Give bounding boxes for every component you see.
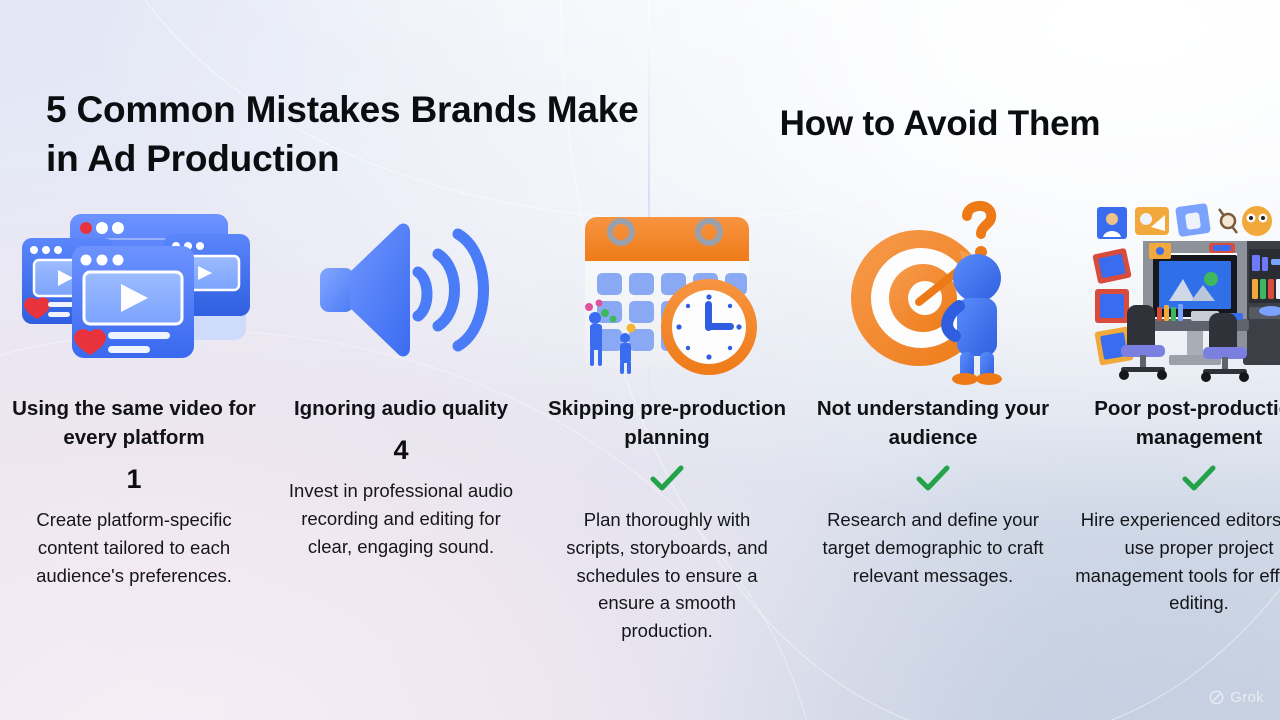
column-marker: [916, 452, 950, 506]
infographic-canvas: 5 Common Mistakes Brands Make in Ad Prod…: [0, 0, 1280, 720]
column-title: Skipping pre-production planning: [542, 394, 792, 452]
column-title: Using the same video for every platform: [8, 394, 260, 452]
column-description: Create platform-specific content tailore…: [8, 506, 260, 589]
column-description: Research and define your target demograp…: [820, 506, 1046, 589]
column-description: Plan thoroughly with scripts, storyboard…: [557, 506, 777, 645]
calendar-clock-icon: [542, 190, 792, 390]
grok-watermark: Grok: [1209, 689, 1264, 706]
grok-logo-icon: [1209, 690, 1224, 705]
editing-workstation-icon: [1074, 190, 1280, 390]
page-title-solutions: How to Avoid Them: [660, 104, 1220, 144]
video-windows-icon: [8, 190, 260, 390]
column-marker: 4: [393, 423, 408, 477]
column-marker: 1: [126, 452, 141, 506]
column-using-same-video: Using the same video for every platform …: [0, 190, 268, 710]
watermark-label: Grok: [1230, 689, 1264, 706]
column-title: Not understanding your audience: [808, 394, 1058, 452]
column-skipping-preproduction: Skipping pre-production planning Plan th…: [534, 190, 800, 710]
column-description: Hire experienced editors and use proper …: [1074, 506, 1280, 617]
marker-number: 4: [393, 435, 408, 466]
page-title-mistakes: 5 Common Mistakes Brands Make in Ad Prod…: [46, 86, 646, 184]
column-not-understanding-audience: Not understanding your audience Research…: [800, 190, 1066, 710]
column-poor-postproduction: Poor post-production management Hire exp…: [1066, 190, 1280, 710]
column-marker: [1182, 452, 1216, 506]
check-icon: [650, 465, 684, 493]
column-marker: [650, 452, 684, 506]
column-description: Invest in professional audio recording a…: [277, 477, 525, 560]
columns-container: Using the same video for every platform …: [0, 190, 1280, 710]
speaker-sound-icon: [276, 190, 526, 390]
column-title: Ignoring audio quality: [276, 394, 526, 423]
check-icon: [1182, 465, 1216, 493]
column-title: Poor post-production management: [1074, 394, 1280, 452]
target-audience-icon: [808, 190, 1058, 390]
column-ignoring-audio: Ignoring audio quality 4 Invest in profe…: [268, 190, 534, 710]
check-icon: [916, 465, 950, 493]
marker-number: 1: [126, 464, 141, 495]
